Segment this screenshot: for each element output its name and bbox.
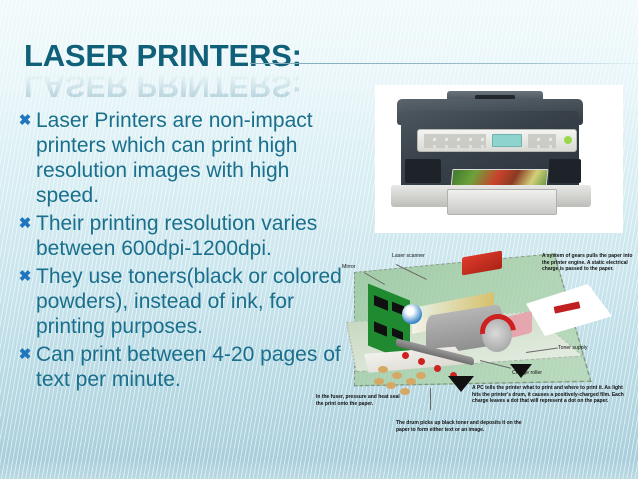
bullet-text: Their printing resolution varies between… — [36, 211, 354, 261]
bullet-marker-icon: ✖ — [14, 211, 36, 236]
printer-power-indicator — [564, 136, 572, 144]
printer-photo: hp — [375, 85, 623, 233]
toner-particle — [392, 372, 402, 379]
printer-output-tray — [447, 189, 557, 215]
toner-particle — [378, 366, 388, 373]
feed-roller — [418, 358, 425, 365]
printer-right-slot — [549, 159, 581, 183]
bullet-text: Laser Printers are non-impact printers w… — [36, 108, 354, 208]
toner-particle — [406, 378, 416, 385]
toner-particle — [386, 382, 396, 389]
printer-keypad-left — [424, 134, 486, 148]
laser-printer-diagram: Laser scanner Mirror Toner supply Charge… — [330, 248, 638, 458]
leader-line — [430, 388, 431, 410]
printer-keypad-right — [528, 134, 556, 148]
diagram-note-drum: The drum picks up black toner and deposi… — [396, 420, 526, 433]
printer-left-slot — [405, 159, 441, 183]
bullet-marker-icon: ✖ — [14, 342, 36, 367]
bullet-text: They use toners(black or colored powders… — [36, 264, 354, 339]
diagram-note-fuser: In the fuser, pressure and heat seal the… — [316, 394, 400, 407]
diagram-label-mirror: Mirror — [342, 265, 356, 270]
bullet-text: Can print between 4-20 pages of text per… — [36, 342, 354, 392]
printer-control-panel — [417, 129, 577, 152]
list-item: ✖ They use toners(black or colored powde… — [14, 264, 354, 339]
printer-lcd-screen — [492, 134, 522, 147]
diagram-label-laser-scanner: Laser scanner — [392, 254, 425, 259]
page-title-reflection: LASER PRINTERS: — [24, 71, 302, 102]
diagram-note-gears: A system of gears pulls the paper into t… — [542, 253, 634, 273]
feed-roller — [402, 352, 409, 359]
diagram-note-pc: A PC tells the printer what to print and… — [472, 385, 630, 405]
title-divider — [250, 63, 638, 64]
list-item: ✖ Can print between 4-20 pages of text p… — [14, 342, 354, 392]
bullet-marker-icon: ✖ — [14, 108, 36, 133]
toner-particle — [416, 372, 426, 379]
diagram-label-charge-roller: Charge roller — [512, 371, 542, 376]
bullet-list: ✖ Laser Printers are non-impact printers… — [14, 108, 354, 395]
page-title: LASER PRINTERS: — [24, 40, 302, 71]
diagram-label-toner-supply: Toner supply — [558, 346, 587, 351]
toner-particle — [374, 378, 384, 385]
toner-particle — [400, 388, 410, 395]
diagram-arrow-marker — [448, 376, 474, 392]
diagram-mirror-assembly — [402, 304, 422, 324]
bullet-marker-icon: ✖ — [14, 264, 36, 289]
list-item: ✖ Their printing resolution varies betwe… — [14, 211, 354, 261]
slide: LASER PRINTERS: LASER PRINTERS: ✖ Laser … — [0, 0, 638, 479]
list-item: ✖ Laser Printers are non-impact printers… — [14, 108, 354, 208]
feed-roller — [434, 365, 441, 372]
